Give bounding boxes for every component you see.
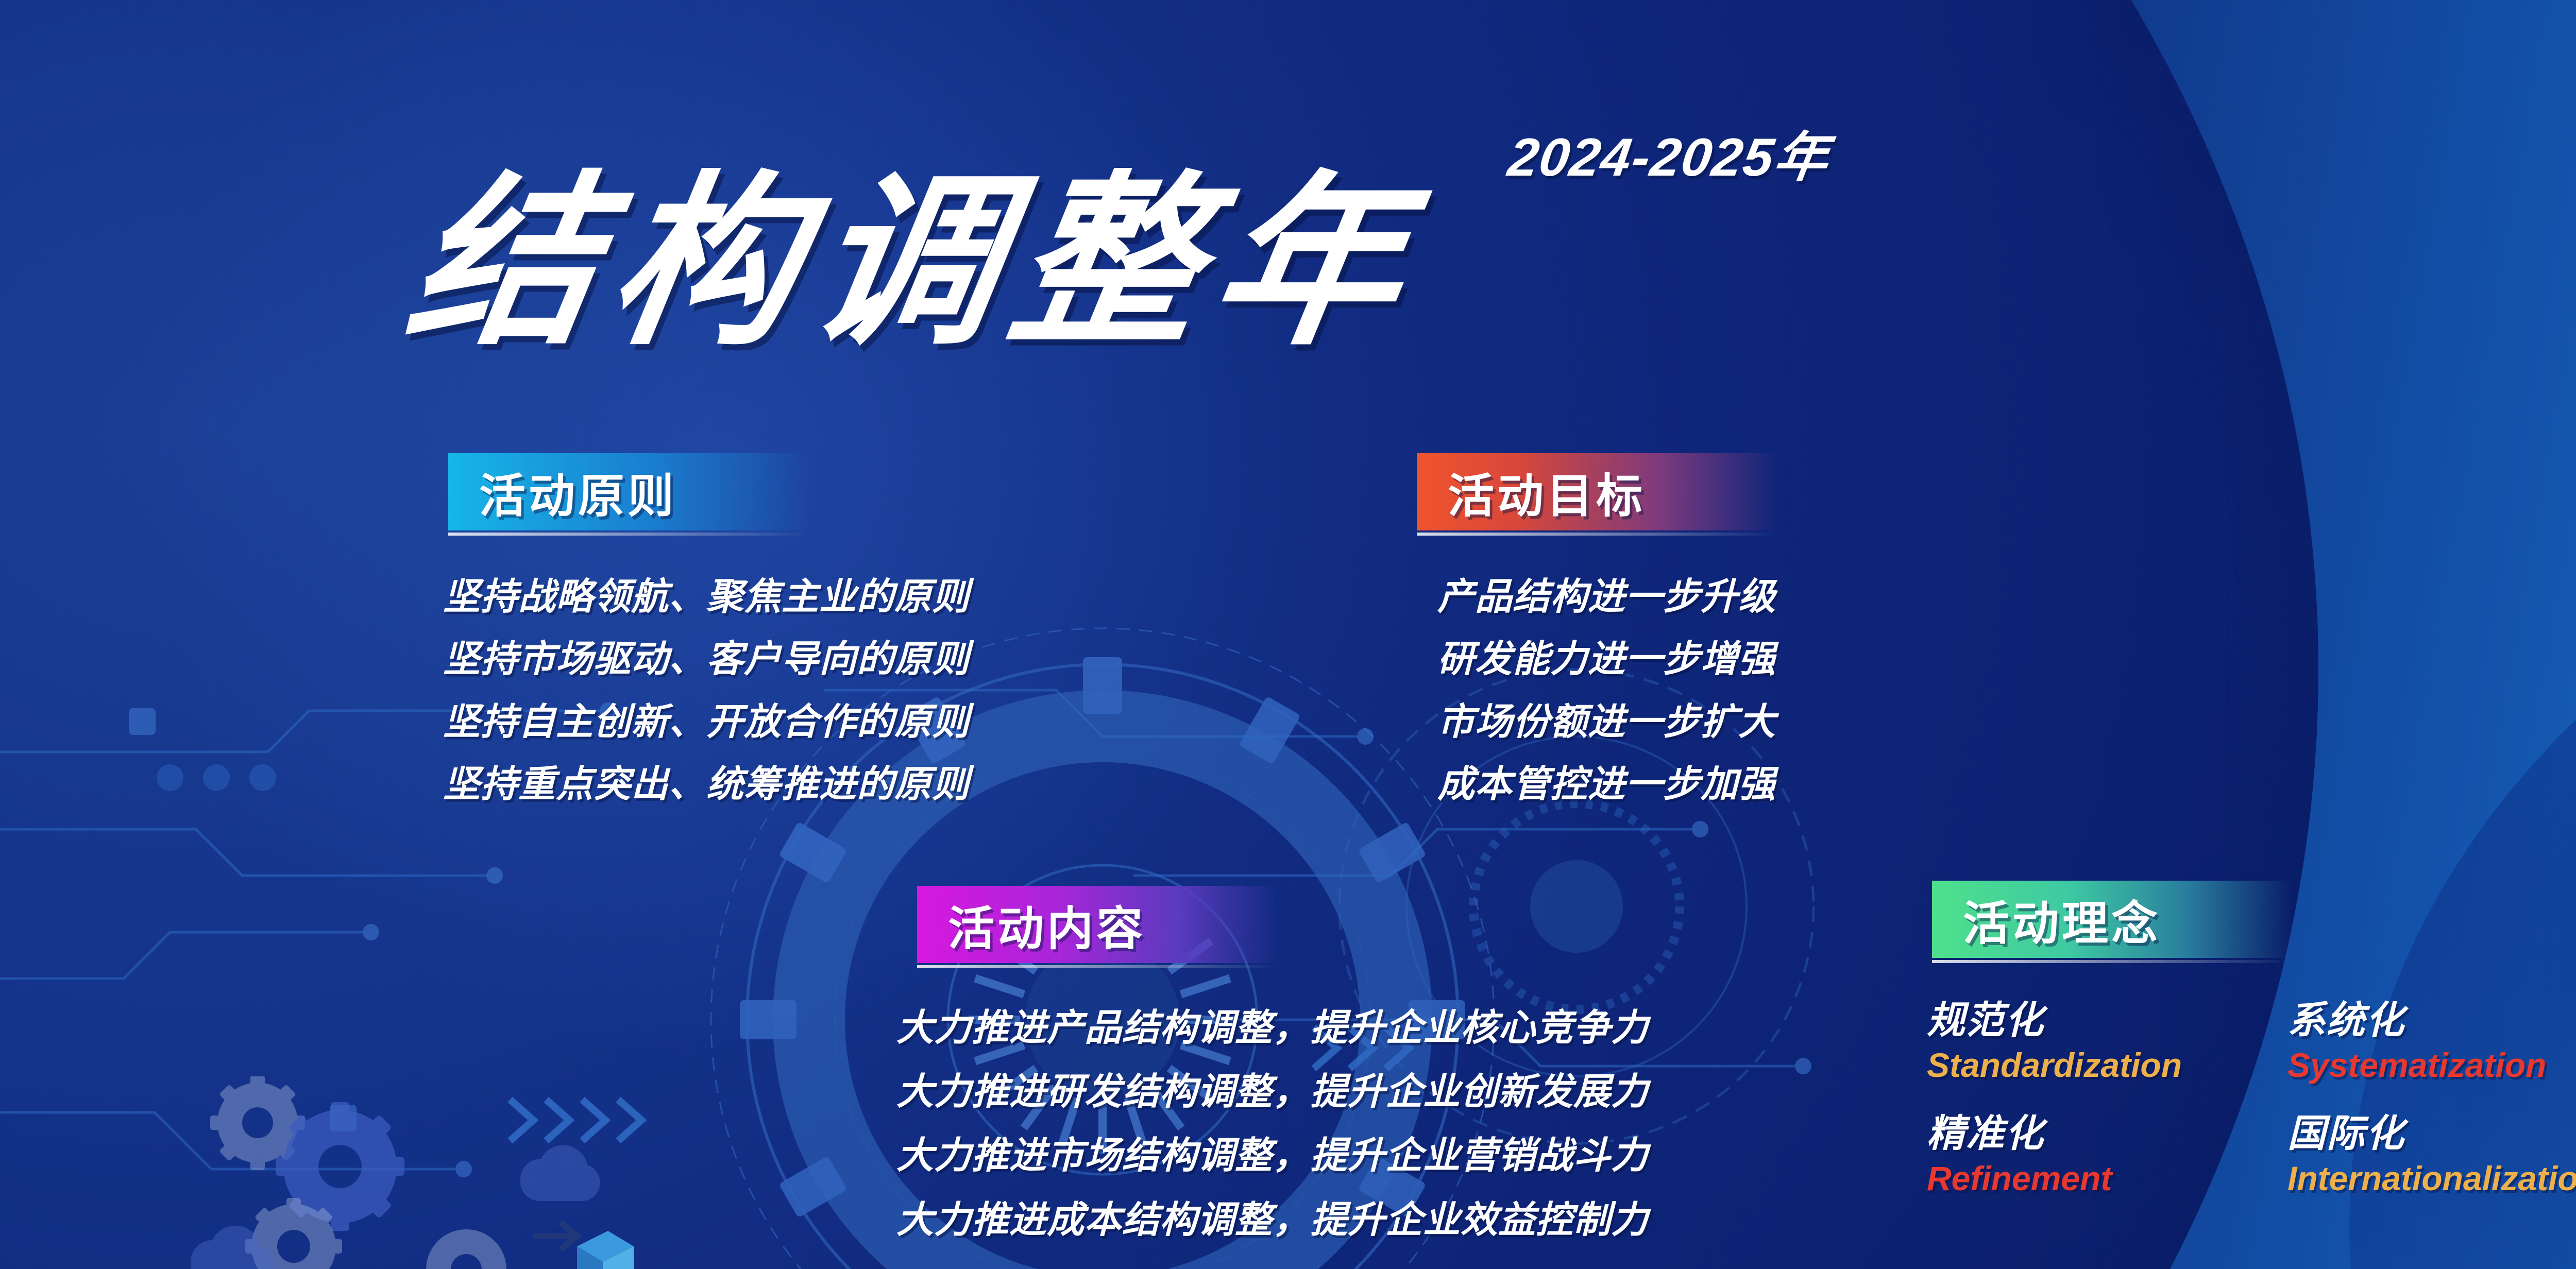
concept-item: 规范化 Standardization bbox=[1927, 999, 2287, 1086]
concept-label-en: Systematization bbox=[2287, 1045, 2576, 1086]
contents-list: 大力推进产品结构调整，提升企业核心竞争力 大力推进研发结构调整，提升企业创新发展… bbox=[896, 1002, 1649, 1258]
badge-concepts: 活动理念 bbox=[1932, 881, 2293, 958]
concept-label-cn: 精准化 bbox=[1927, 1112, 2287, 1155]
list-item: 大力推进成本结构调整，提升企业效益控制力 bbox=[896, 1194, 1649, 1246]
concepts-grid: 规范化 Standardization 系统化 Systematization … bbox=[1927, 999, 2576, 1199]
list-item: 大力推进市场结构调整，提升企业营销战斗力 bbox=[896, 1129, 1649, 1182]
list-item: 产品结构进一步升级 bbox=[1437, 572, 1776, 623]
concept-label-cn: 国际化 bbox=[2287, 1112, 2576, 1155]
badge-principles: 活动原则 bbox=[448, 453, 809, 530]
concept-label-cn: 规范化 bbox=[1927, 999, 2287, 1042]
list-item: 坚持战略领航、聚焦主业的原则 bbox=[443, 572, 970, 623]
badge-goals: 活动目标 bbox=[1417, 453, 1777, 530]
principles-list: 坚持战略领航、聚焦主业的原则 坚持市场驱动、客户导向的原则 坚持自主创新、开放合… bbox=[443, 572, 970, 821]
year-label: 2024-2025年 bbox=[1504, 113, 1835, 191]
list-item: 坚持自主创新、开放合作的原则 bbox=[443, 697, 970, 748]
poster-canvas: 2024-2025年 结构调整年 活动原则 坚持战略领航、聚焦主业的原则 坚持市… bbox=[0, 0, 2576, 1269]
chevron-right-group-icon bbox=[505, 1092, 675, 1148]
concept-item: 精准化 Refinement bbox=[1927, 1112, 2287, 1199]
concept-label-en: Internationalization bbox=[2287, 1158, 2576, 1199]
badge-contents: 活动内容 bbox=[917, 886, 1278, 963]
concept-label-en: Standardization bbox=[1927, 1045, 2287, 1086]
list-item: 成本管控进一步加强 bbox=[1437, 759, 1776, 810]
concept-label-en: Refinement bbox=[1927, 1158, 2287, 1199]
concept-item: 国际化 Internationalization bbox=[2287, 1112, 2576, 1199]
list-item: 大力推进产品结构调整，提升企业核心竞争力 bbox=[896, 1002, 1649, 1054]
cube-icon bbox=[577, 1231, 634, 1269]
list-item: 研发能力进一步增强 bbox=[1437, 634, 1776, 685]
concept-item: 系统化 Systematization bbox=[2287, 999, 2576, 1086]
concept-label-cn: 系统化 bbox=[2287, 999, 2576, 1042]
page-title: 结构调整年 bbox=[397, 170, 1431, 355]
goals-list: 产品结构进一步升级 研发能力进一步增强 市场份额进一步扩大 成本管控进一步加强 bbox=[1437, 572, 1776, 821]
slogan-rings-decoration-icon bbox=[2566, 206, 2576, 448]
list-item: 坚持重点突出、统筹推进的原则 bbox=[443, 759, 970, 810]
list-item: 坚持市场驱动、客户导向的原则 bbox=[443, 634, 970, 685]
list-item: 市场份额进一步扩大 bbox=[1437, 697, 1776, 748]
list-item: 大力推进研发结构调整，提升企业创新发展力 bbox=[896, 1066, 1649, 1118]
arrow-right-icon bbox=[533, 1223, 577, 1249]
